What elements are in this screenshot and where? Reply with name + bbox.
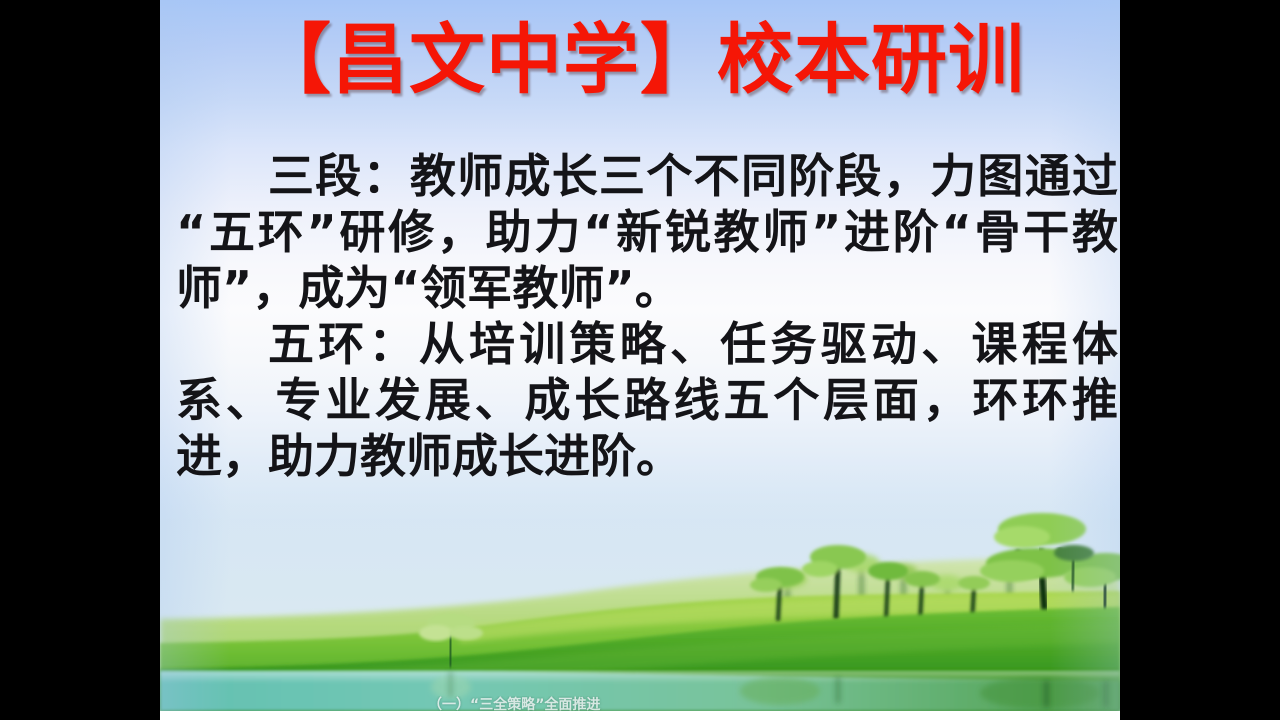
- paragraph-wu-huan: 五环：从培训策略、任务驱动、课程体系、专业发展、成长路线五个层面，环环推进，助力…: [176, 316, 1118, 484]
- paragraph-san-duan: 三段：教师成长三个不同阶段，力图通过“五环”研修，助力“新锐教师”进阶“骨干教师…: [176, 148, 1118, 316]
- landscape-illustration: [160, 471, 1120, 711]
- letterbox-bar-right: [1120, 0, 1280, 720]
- next-slide-strip: [160, 711, 1120, 720]
- slide-body-text: 三段：教师成长三个不同阶段，力图通过“五环”研修，助力“新锐教师”进阶“骨干教师…: [176, 148, 1118, 484]
- screenshot-viewport: 【昌文中学】校本研训 三段：教师成长三个不同阶段，力图通过“五环”研修，助力“新…: [0, 0, 1280, 720]
- slide-title: 【昌文中学】校本研训: [160, 16, 1120, 104]
- presentation-slide: 【昌文中学】校本研训 三段：教师成长三个不同阶段，力图通过“五环”研修，助力“新…: [160, 0, 1120, 720]
- letterbox-bar-left: [0, 0, 160, 720]
